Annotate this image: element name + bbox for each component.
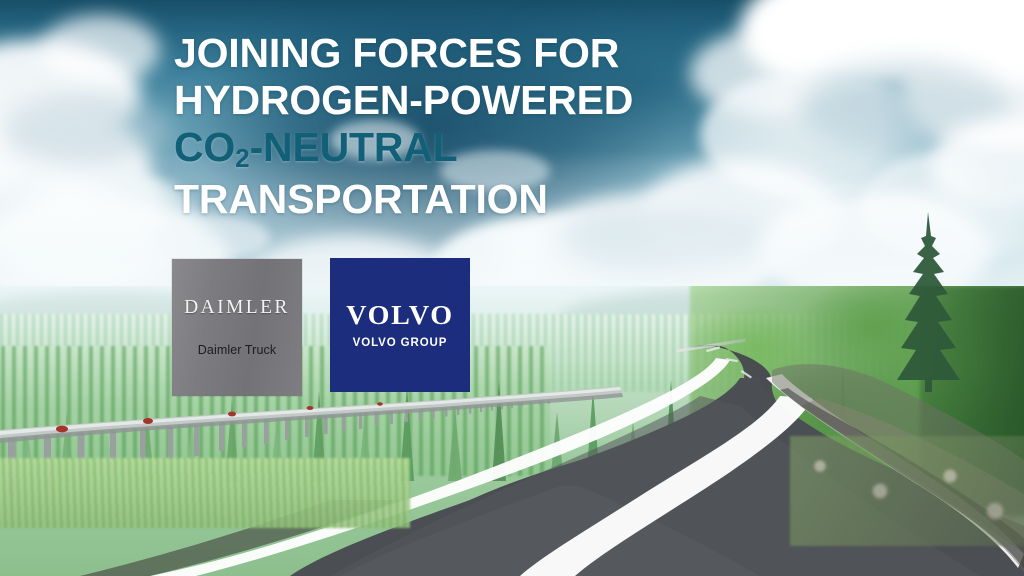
volvo-subtitle: VOLVO GROUP xyxy=(330,337,470,349)
volvo-wordmark: VOLVO xyxy=(327,300,473,331)
spruce-tree-tall-right xyxy=(892,212,964,392)
rocky-bank-right xyxy=(790,436,1024,546)
daimler-subtitle: Daimler Truck xyxy=(172,343,302,357)
guardrail-beam-shadow xyxy=(0,393,623,443)
headline-co2-subscript: 2 xyxy=(235,143,249,173)
headline-line-2: HYDROGEN-POWERED xyxy=(174,77,734,124)
landscape-background xyxy=(0,286,1024,576)
page-title: JOINING FORCES FOR HYDROGEN-POWERED CO2-… xyxy=(174,30,734,223)
headline-co2-suffix: -NEUTRAL xyxy=(250,124,458,170)
grass-verge-left xyxy=(0,458,410,528)
spruce-silhouette xyxy=(897,212,960,392)
logo-volvo-group[interactable]: VOLVO VOLVO GROUP xyxy=(330,258,470,392)
headline-line-1: JOINING FORCES FOR xyxy=(174,30,734,77)
headline-line-4: TRANSPORTATION xyxy=(174,176,734,223)
logo-daimler-truck[interactable]: DAIMLER Daimler Truck xyxy=(172,259,302,396)
daimler-wordmark: DAIMLER xyxy=(172,297,302,319)
headline-co2-prefix: CO xyxy=(174,124,235,170)
slide-canvas: JOINING FORCES FOR HYDROGEN-POWERED CO2-… xyxy=(0,0,1024,576)
headline-line-3: CO2-NEUTRAL xyxy=(174,124,734,176)
